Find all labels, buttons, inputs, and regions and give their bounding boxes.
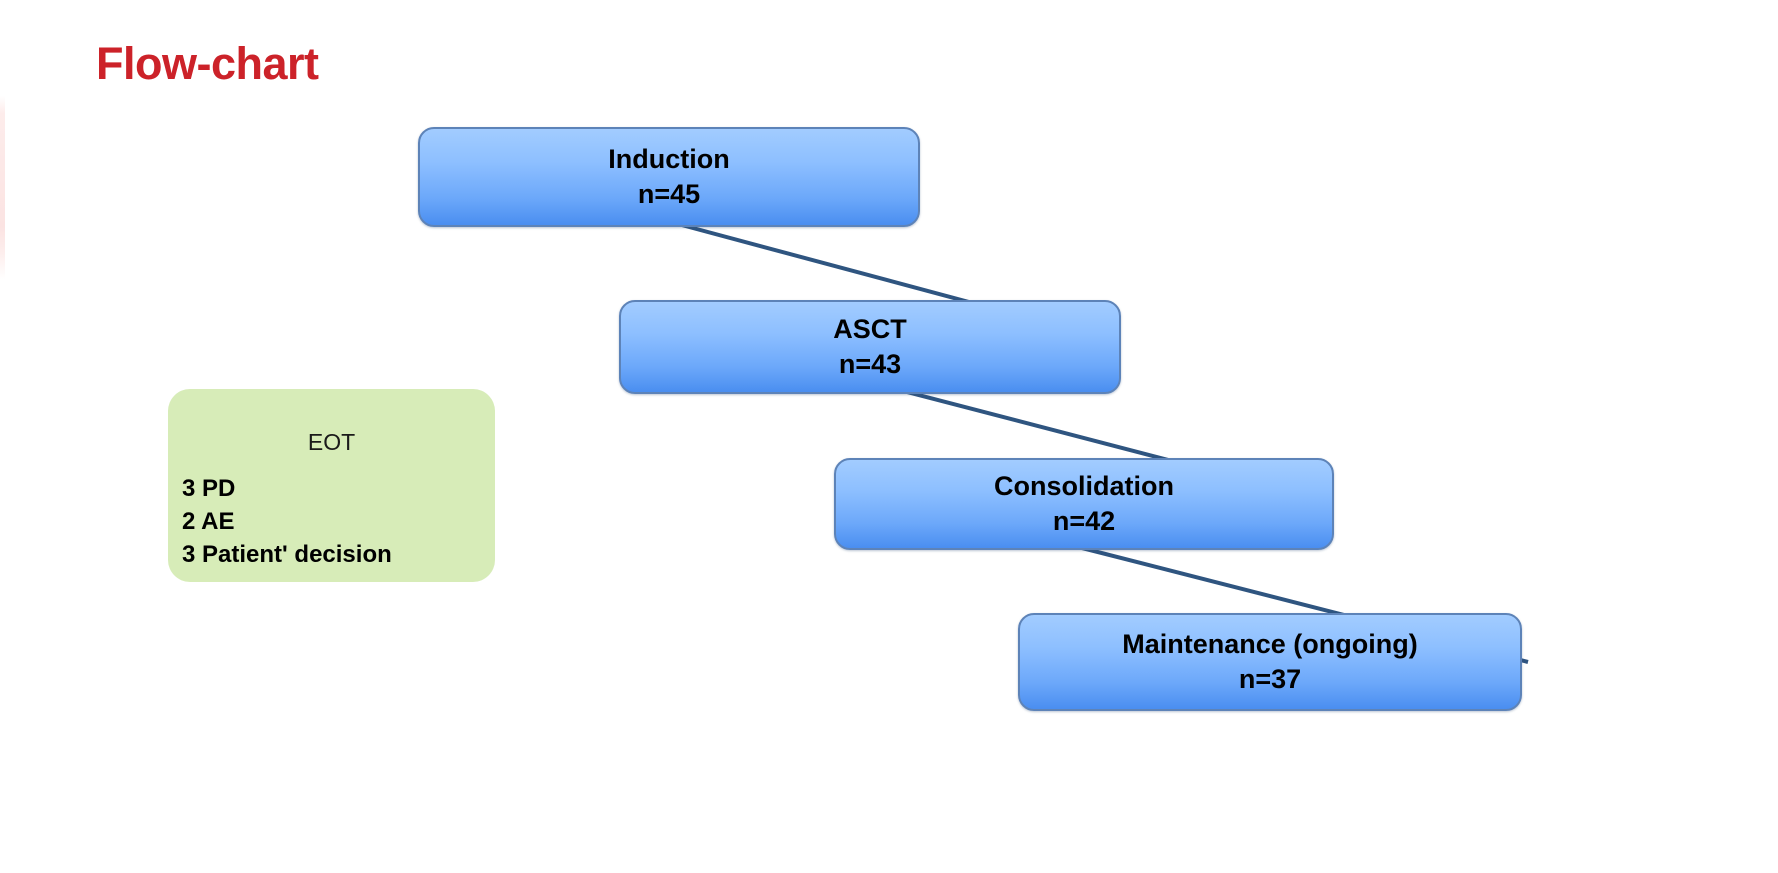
flow-node-consolidation-count: n=42 xyxy=(1053,504,1115,539)
eot-note-box[interactable]: EOT 3 PD 2 AE 3 Patient' decision xyxy=(168,389,495,582)
flow-node-consolidation-label: Consolidation xyxy=(994,469,1174,504)
flow-node-maintenance[interactable]: Maintenance (ongoing) n=37 xyxy=(1018,613,1522,711)
flow-node-maintenance-count: n=37 xyxy=(1239,662,1301,697)
eot-reason-item: 3 PD xyxy=(182,472,495,505)
flow-node-induction-label: Induction xyxy=(608,142,729,177)
flow-node-maintenance-label: Maintenance (ongoing) xyxy=(1122,627,1417,662)
flow-node-asct-count: n=43 xyxy=(839,347,901,382)
flow-node-consolidation[interactable]: Consolidation n=42 xyxy=(834,458,1334,550)
eot-reason-item: 2 AE xyxy=(182,505,495,538)
eot-title: EOT xyxy=(168,429,495,456)
flow-node-induction-count: n=45 xyxy=(638,177,700,212)
flow-node-asct-label: ASCT xyxy=(833,312,907,347)
flow-node-asct[interactable]: ASCT n=43 xyxy=(619,300,1121,394)
eot-reason-item: 3 Patient' decision xyxy=(182,538,495,571)
eot-reason-list: 3 PD 2 AE 3 Patient' decision xyxy=(168,472,495,571)
flow-node-induction[interactable]: Induction n=45 xyxy=(418,127,920,227)
slide-canvas: Flow-chart Induction n=45 ASCT n=43 Cons… xyxy=(0,0,1778,873)
